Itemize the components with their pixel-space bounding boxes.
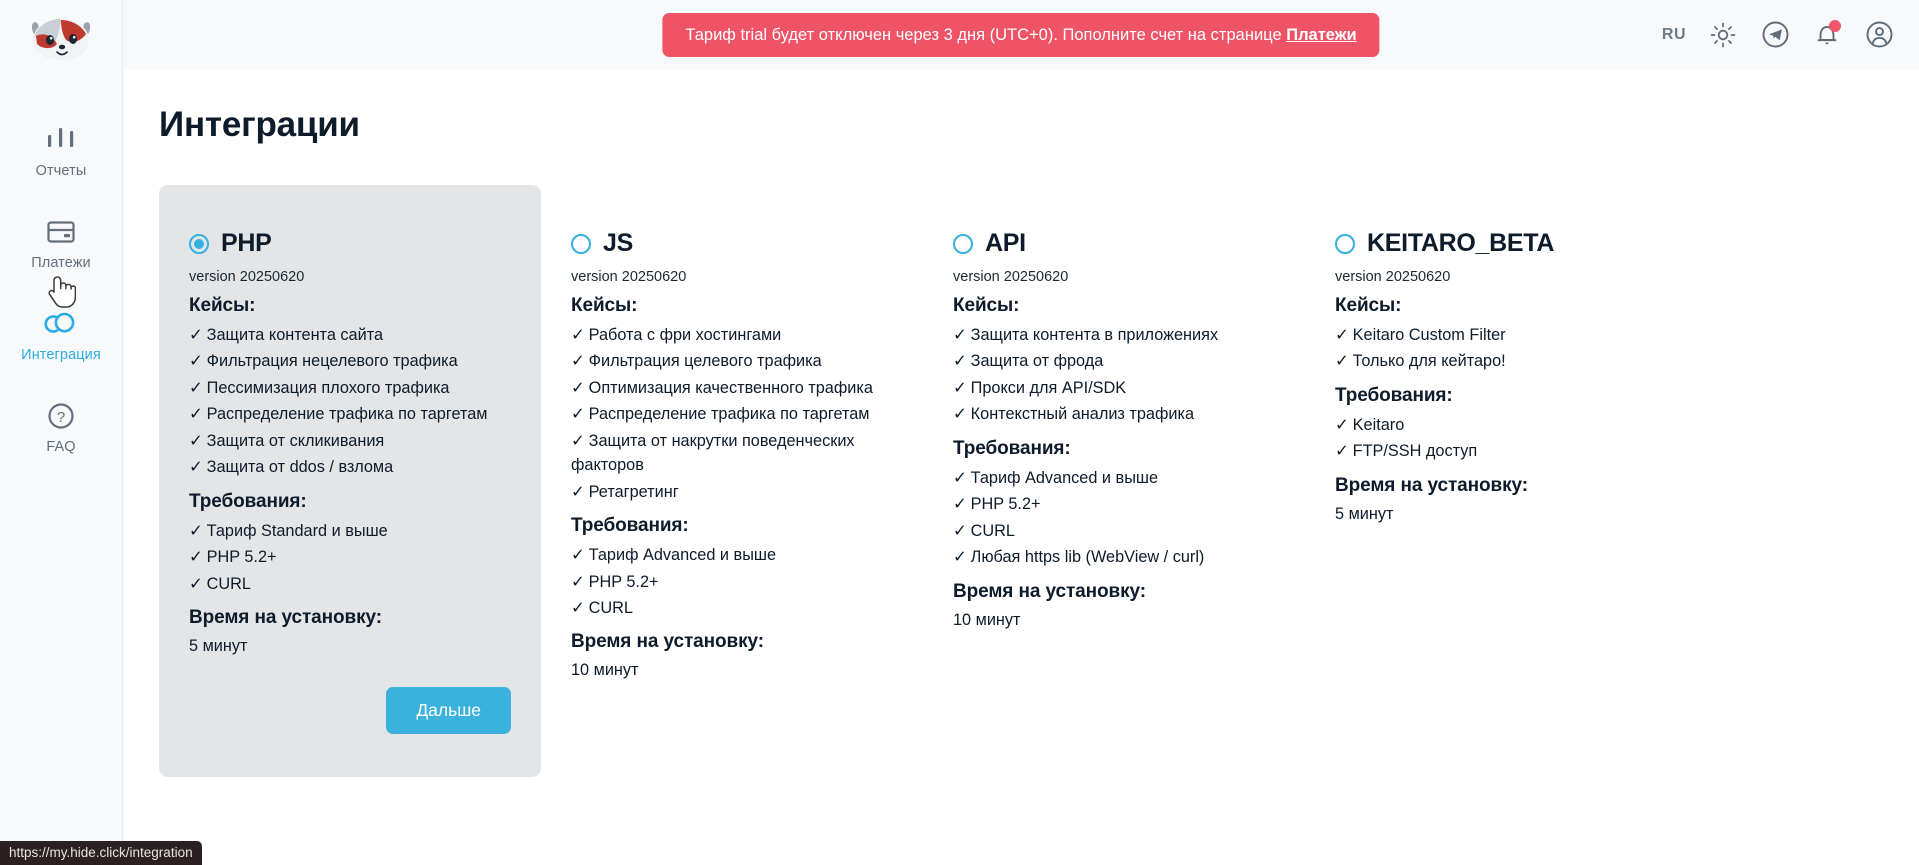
link-chain-icon: [44, 307, 78, 341]
cases-list: ✓Защита контента сайта ✓Фильтрация нецел…: [189, 322, 511, 481]
check-icon: ✓: [571, 483, 585, 501]
list-item: ✓Защита контента сайта: [189, 322, 511, 348]
list-item: ✓PHP 5.2+: [571, 569, 893, 595]
list-item-label: Распределение трафика по таргетам: [207, 405, 488, 423]
card-version: version 20250620: [1335, 269, 1657, 285]
status-bar-url: https://my.hide.click/integration: [0, 841, 202, 865]
list-item: ✓PHP 5.2+: [953, 491, 1275, 517]
card-title: API: [985, 229, 1026, 258]
sidebar-item-integraciya[interactable]: Интеграция: [0, 296, 122, 372]
topbar: Тариф trial будет отключен через 3 дня (…: [123, 0, 1919, 69]
list-item: ✓Ретагретинг: [571, 479, 893, 505]
list-item-label: Защита контента в приложениях: [971, 326, 1218, 344]
check-icon: ✓: [1335, 442, 1349, 460]
list-item: ✓CURL: [571, 595, 893, 621]
list-item-label: CURL: [207, 575, 251, 593]
requirements-list: ✓Тариф Standard и выше ✓PHP 5.2+ ✓CURL: [189, 518, 511, 597]
credit-card-icon: [45, 215, 77, 249]
sidebar-item-platezhi[interactable]: Платежи: [0, 204, 122, 280]
card-actions: Дальше: [189, 659, 511, 734]
telegram-icon[interactable]: [1760, 20, 1790, 50]
sidebar: Отчеты Платежи: [0, 0, 123, 865]
list-item: ✓Оптимизация качественного трафика: [571, 375, 893, 401]
list-item: ✓Защита от фрода: [953, 348, 1275, 374]
app-root: Отчеты Платежи: [0, 0, 1919, 865]
card-header: JS: [571, 229, 893, 258]
list-item: ✓Защита от накрутки поведенческих фактор…: [571, 428, 893, 479]
list-item: ✓PHP 5.2+: [189, 544, 511, 570]
list-item-label: Keitaro: [1353, 416, 1405, 434]
integration-card-api[interactable]: API version 20250620 Кейсы: ✓Защита конт…: [923, 185, 1305, 653]
integration-cards: PHP version 20250620 Кейсы: ✓Защита конт…: [159, 185, 1919, 777]
list-item-label: PHP 5.2+: [971, 495, 1041, 513]
check-icon: ✓: [953, 379, 967, 397]
requirements-heading: Требования:: [189, 491, 511, 513]
check-icon: ✓: [189, 432, 203, 450]
requirements-heading: Требования:: [953, 438, 1275, 460]
list-item-label: Фильтрация целевого трафика: [589, 352, 822, 370]
card-version: version 20250620: [571, 269, 893, 285]
list-item: ✓Keitaro: [1335, 412, 1657, 438]
list-item-label: Защита от скликивания: [207, 432, 385, 450]
notifications-bell-icon[interactable]: [1812, 20, 1842, 50]
cases-heading: Кейсы:: [953, 295, 1275, 317]
list-item: ✓Защита от скликивания: [189, 428, 511, 454]
list-item-label: Оптимизация качественного трафика: [589, 379, 873, 397]
list-item: ✓CURL: [189, 571, 511, 597]
list-item-label: CURL: [971, 522, 1015, 540]
list-item: ✓Распределение трафика по таргетам: [189, 401, 511, 427]
card-header: KEITARO_BETA: [1335, 229, 1657, 258]
check-icon: ✓: [189, 326, 203, 344]
integration-card-keitaro-beta[interactable]: KEITARO_BETA version 20250620 Кейсы: ✓Ke…: [1305, 185, 1687, 547]
card-header: PHP: [189, 229, 511, 258]
raccoon-logo-icon[interactable]: [25, 12, 97, 66]
sidebar-item-label: Интеграция: [21, 347, 101, 363]
list-item: ✓Keitaro Custom Filter: [1335, 322, 1657, 348]
check-icon: ✓: [953, 405, 967, 423]
check-icon: ✓: [189, 405, 203, 423]
requirements-list: ✓Тариф Advanced и выше ✓PHP 5.2+ ✓CURL ✓…: [953, 465, 1275, 571]
topbar-icons: RU: [1662, 20, 1894, 50]
list-item-label: Тариф Advanced и выше: [971, 469, 1158, 487]
install-time-value: 5 минут: [189, 634, 511, 659]
list-item-label: Защита от ddos / взлома: [207, 458, 394, 476]
install-time-heading: Время на установку:: [571, 631, 893, 653]
check-icon: ✓: [1335, 326, 1349, 344]
check-icon: ✓: [953, 548, 967, 566]
list-item-label: Любая https lib (WebView / curl): [971, 548, 1205, 566]
card-title: KEITARO_BETA: [1367, 229, 1554, 258]
list-item-label: CURL: [589, 599, 633, 617]
list-item-label: Защита контента сайта: [207, 326, 383, 344]
check-icon: ✓: [571, 352, 585, 370]
next-button[interactable]: Дальше: [386, 687, 511, 734]
card-header: API: [953, 229, 1275, 258]
card-version: version 20250620: [953, 269, 1275, 285]
check-icon: ✓: [571, 326, 585, 344]
list-item: ✓Пессимизация плохого трафика: [189, 375, 511, 401]
list-item-label: Защита от накрутки поведенческих факторо…: [571, 432, 855, 474]
list-item: ✓Фильтрация нецелевого трафика: [189, 348, 511, 374]
list-item: ✓Защита контента в приложениях: [953, 322, 1275, 348]
question-circle-icon: ?: [45, 399, 77, 433]
theme-sun-icon[interactable]: [1708, 20, 1738, 50]
list-item-label: Работа с фри хостингами: [589, 326, 782, 344]
requirements-heading: Требования:: [571, 515, 893, 537]
bar-chart-icon: [45, 123, 77, 157]
trial-alert-text: Тариф trial будет отключен через 3 дня (…: [685, 26, 1286, 44]
list-item-label: Тариф Advanced и выше: [589, 546, 776, 564]
integration-card-js[interactable]: JS version 20250620 Кейсы: ✓Работа с фри…: [541, 185, 923, 704]
main-area: Тариф trial будет отключен через 3 дня (…: [123, 0, 1919, 865]
radio-keitaro-beta[interactable]: [1335, 234, 1355, 254]
list-item-label: Ретагретинг: [589, 483, 679, 501]
payments-link[interactable]: Платежи: [1286, 26, 1356, 44]
check-icon: ✓: [953, 326, 967, 344]
list-item-label: Фильтрация нецелевого трафика: [207, 352, 458, 370]
list-item-label: PHP 5.2+: [589, 573, 659, 591]
cases-heading: Кейсы:: [1335, 295, 1657, 317]
list-item: ✓Распределение трафика по таргетам: [571, 401, 893, 427]
svg-text:?: ?: [57, 409, 65, 426]
cases-list: ✓Защита контента в приложениях ✓Защита о…: [953, 322, 1275, 428]
list-item: ✓Любая https lib (WebView / curl): [953, 544, 1275, 570]
check-icon: ✓: [953, 495, 967, 513]
list-item-label: Защита от фрода: [971, 352, 1104, 370]
list-item-label: PHP 5.2+: [207, 548, 277, 566]
install-time-value: 10 минут: [571, 658, 893, 683]
check-icon: ✓: [571, 432, 585, 450]
check-icon: ✓: [953, 469, 967, 487]
list-item-label: Только для кейтаро!: [1353, 352, 1506, 370]
check-icon: ✓: [189, 522, 203, 540]
radio-js[interactable]: [571, 234, 591, 254]
requirements-list: ✓Тариф Advanced и выше ✓PHP 5.2+ ✓CURL: [571, 542, 893, 621]
install-time-heading: Время на установку:: [953, 581, 1275, 603]
check-icon: ✓: [571, 405, 585, 423]
list-item: ✓Контекстный анализ трафика: [953, 401, 1275, 427]
list-item: ✓Тариф Standard и выше: [189, 518, 511, 544]
requirements-list: ✓Keitaro ✓FTP/SSH доступ: [1335, 412, 1657, 465]
card-title: PHP: [221, 229, 272, 258]
list-item: ✓Прокси для API/SDK: [953, 375, 1275, 401]
sidebar-nav: Отчеты Платежи: [0, 112, 122, 464]
list-item: ✓Тариф Advanced и выше: [571, 542, 893, 568]
sidebar-item-label: FAQ: [46, 439, 75, 455]
trial-alert-banner: Тариф trial будет отключен через 3 дня (…: [662, 13, 1379, 57]
check-icon: ✓: [571, 546, 585, 564]
list-item-label: Контекстный анализ трафика: [971, 405, 1194, 423]
install-time-value: 5 минут: [1335, 502, 1657, 527]
list-item-label: Прокси для API/SDK: [971, 379, 1126, 397]
cases-list: ✓Работа с фри хостингами ✓Фильтрация цел…: [571, 322, 893, 505]
card-title: JS: [603, 229, 633, 258]
page-title: Интеграции: [159, 105, 1919, 145]
list-item-label: Пессимизация плохого трафика: [207, 379, 450, 397]
notification-badge: [1829, 20, 1841, 32]
sidebar-item-label: Отчеты: [36, 163, 87, 179]
list-item: ✓Тариф Advanced и выше: [953, 465, 1275, 491]
check-icon: ✓: [571, 573, 585, 591]
card-version: version 20250620: [189, 269, 511, 285]
page-content: Интеграции PHP version 20250620 Кейсы: ✓…: [123, 69, 1919, 777]
language-switcher[interactable]: RU: [1662, 26, 1686, 44]
radio-php[interactable]: [189, 234, 209, 254]
radio-api[interactable]: [953, 234, 973, 254]
requirements-heading: Требования:: [1335, 385, 1657, 407]
check-icon: ✓: [953, 522, 967, 540]
install-time-value: 10 минут: [953, 608, 1275, 633]
list-item-label: Тариф Standard и выше: [207, 522, 388, 540]
check-icon: ✓: [189, 575, 203, 593]
sidebar-item-faq[interactable]: ? FAQ: [0, 388, 122, 464]
sidebar-item-otchety[interactable]: Отчеты: [0, 112, 122, 188]
list-item: ✓FTP/SSH доступ: [1335, 438, 1657, 464]
list-item-label: FTP/SSH доступ: [1353, 442, 1478, 460]
integration-card-php[interactable]: PHP version 20250620 Кейсы: ✓Защита конт…: [159, 185, 541, 777]
check-icon: ✓: [571, 599, 585, 617]
check-icon: ✓: [1335, 416, 1349, 434]
check-icon: ✓: [189, 548, 203, 566]
cases-heading: Кейсы:: [571, 295, 893, 317]
check-icon: ✓: [189, 352, 203, 370]
list-item-label: Keitaro Custom Filter: [1353, 326, 1506, 344]
list-item: ✓Работа с фри хостингами: [571, 322, 893, 348]
install-time-heading: Время на установку:: [189, 607, 511, 629]
list-item-label: Распределение трафика по таргетам: [589, 405, 870, 423]
list-item: ✓CURL: [953, 518, 1275, 544]
check-icon: ✓: [953, 352, 967, 370]
cases-heading: Кейсы:: [189, 295, 511, 317]
user-account-icon[interactable]: [1864, 20, 1894, 50]
sidebar-item-label: Платежи: [31, 255, 91, 271]
check-icon: ✓: [189, 379, 203, 397]
check-icon: ✓: [189, 458, 203, 476]
cases-list: ✓Keitaro Custom Filter ✓Только для кейта…: [1335, 322, 1657, 375]
install-time-heading: Время на установку:: [1335, 475, 1657, 497]
check-icon: ✓: [1335, 352, 1349, 370]
check-icon: ✓: [571, 379, 585, 397]
list-item: ✓Только для кейтаро!: [1335, 348, 1657, 374]
list-item: ✓Фильтрация целевого трафика: [571, 348, 893, 374]
list-item: ✓Защита от ddos / взлома: [189, 454, 511, 480]
